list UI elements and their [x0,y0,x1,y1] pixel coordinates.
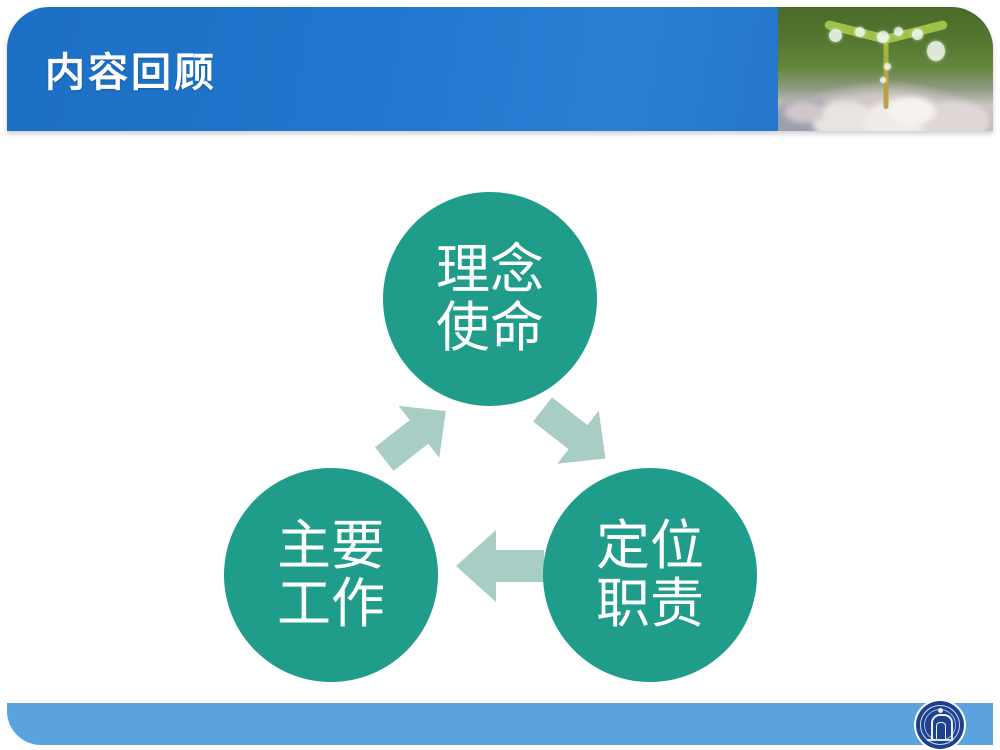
cycle-node-top-line2: 使命 [436,299,544,357]
seedling-image [778,7,993,131]
arrow-right-to-left-icon [452,528,548,604]
cycle-node-left-line1: 主要 [277,517,385,575]
emblem-base-line [927,739,953,741]
cycle-node-top[interactable]: 理念 使命 [383,192,597,406]
water-droplet [894,27,903,36]
water-droplet [877,31,889,43]
emblem-inner-arch-shape [936,722,946,739]
sprout-icon [811,25,961,111]
page-title: 内容回顾 [45,7,217,131]
slide-footer [7,703,993,745]
cycle-node-right-line2: 职责 [596,575,704,633]
arrow-left-to-top-icon [370,390,460,480]
slide-canvas: 内容回顾 [0,0,1000,750]
water-droplet [829,29,842,42]
cycle-node-right-line1: 定位 [596,517,704,575]
water-droplet [912,29,923,40]
arrow-top-to-right-icon [528,388,620,480]
cycle-node-right[interactable]: 定位 职责 [543,468,757,682]
cycle-node-top-line1: 理念 [436,241,544,299]
emblem-top-dot [938,708,943,713]
water-droplet [927,41,945,61]
stem-shape [883,37,888,109]
slide-header: 内容回顾 [7,7,993,131]
university-emblem-icon [916,701,964,749]
water-droplet [880,77,886,83]
header-photo [778,7,993,131]
cycle-node-left[interactable]: 主要 工作 [224,468,438,682]
water-droplet [855,27,865,37]
cycle-diagram: 理念 使命 定位 职责 主要 工作 [0,150,1000,690]
water-droplet [884,63,891,70]
cycle-node-left-line2: 工作 [277,575,385,633]
